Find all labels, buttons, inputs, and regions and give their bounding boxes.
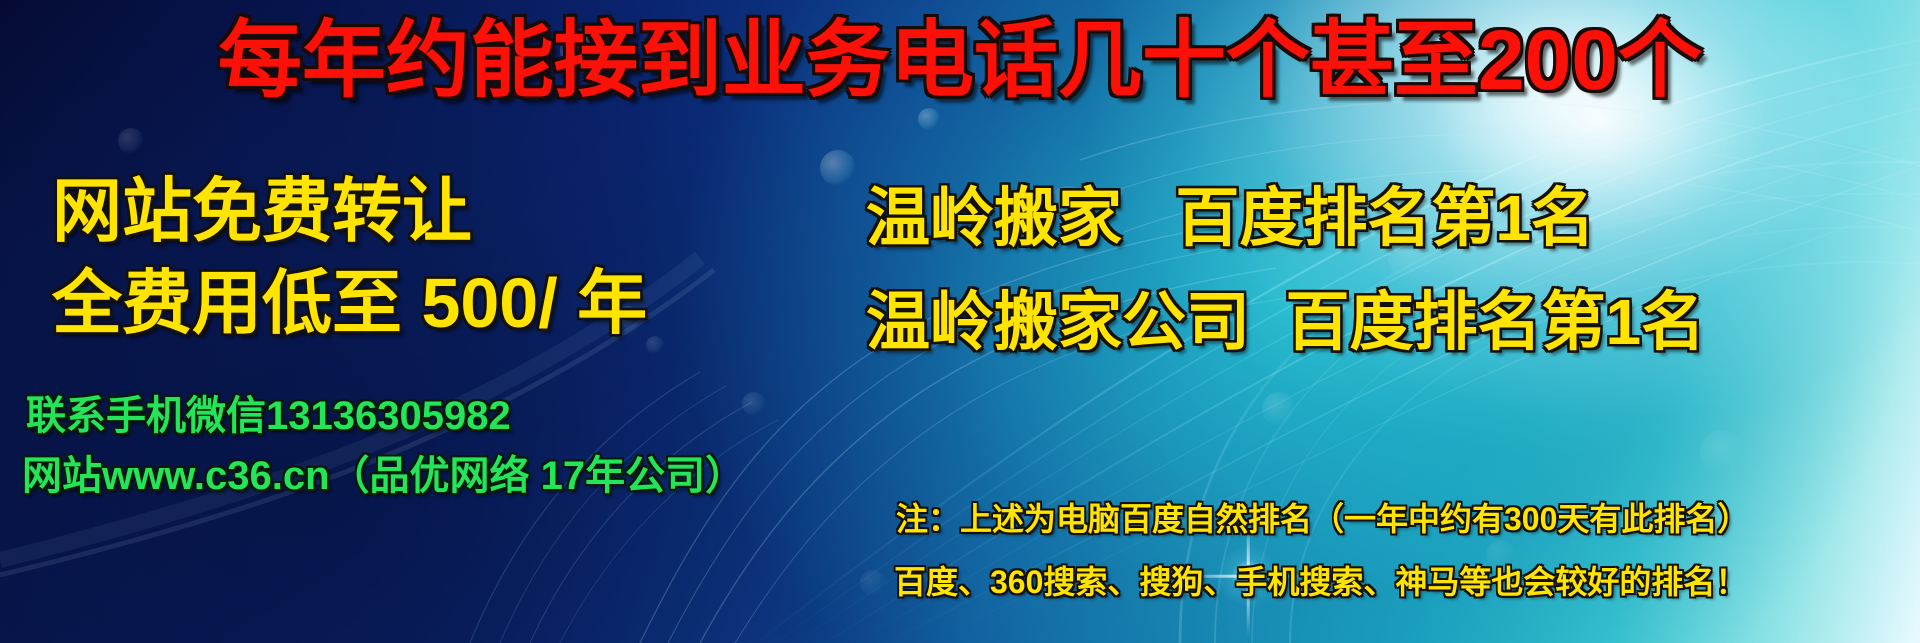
- bokeh-dot: [118, 128, 144, 154]
- promo-banner: 每年约能接到业务电话几十个甚至200个 网站免费转让 全费用低至 500/ 年 …: [0, 0, 1920, 643]
- page-title: 每年约能接到业务电话几十个甚至200个: [0, 18, 1920, 102]
- offer-headline-price: 全费用低至 500/ 年: [52, 268, 647, 338]
- bokeh-dot: [1700, 430, 1744, 474]
- ranking-line-moving: 温岭搬家 百度排名第1名: [866, 186, 1595, 250]
- contact-phone-wechat: 联系手机微信13136305982: [26, 396, 511, 436]
- bokeh-dot: [820, 150, 856, 186]
- bokeh-dot: [742, 392, 766, 416]
- contact-website: 网站www.c36.cn（品优网络 17年公司）: [22, 456, 745, 496]
- bokeh-dot: [918, 108, 940, 130]
- bokeh-dot: [860, 570, 886, 596]
- ranking-line-moving-company: 温岭搬家公司 百度排名第1名: [866, 290, 1705, 354]
- note-baidu-natural-ranking: 注：上述为电脑百度自然排名（一年中约有300天有此排名）: [896, 503, 1749, 535]
- note-other-search-engines: 百度、360搜索、搜狗、手机搜索、神马等也会较好的排名！: [894, 566, 1747, 598]
- offer-headline-transfer: 网站免费转让: [52, 176, 472, 246]
- bokeh-dot: [1262, 392, 1296, 426]
- bokeh-dot: [646, 336, 664, 354]
